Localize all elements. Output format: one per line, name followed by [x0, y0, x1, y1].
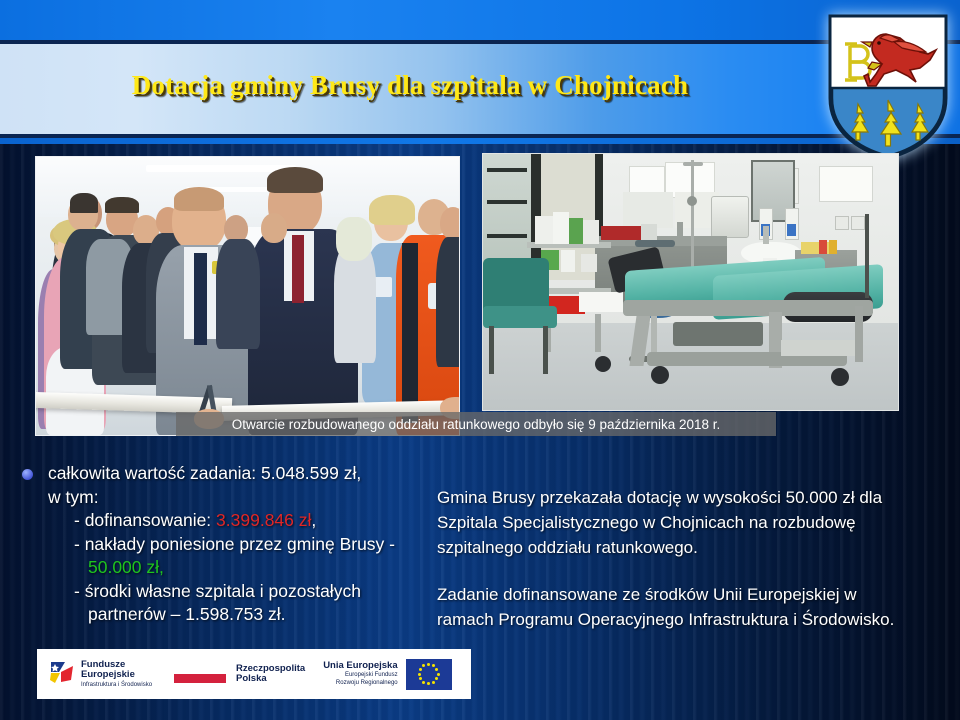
grant-paragraph-line-1: Gmina Brusy przekazała dotację w wysokoś…	[437, 485, 942, 510]
unia-europejska-text: Unia Europejska Europejski Fundusz Rozwo…	[323, 661, 397, 688]
unia-europejska-logo: Unia Europejska Europejski Fundusz Rozwo…	[323, 649, 461, 699]
eu-funding-line-2: ramach Programu Operacyjnego Infrastrukt…	[437, 607, 942, 632]
eu-star	[418, 673, 421, 676]
poland-flag-icon	[174, 666, 226, 683]
slide-header: Dotacja gminy Brusy dla szpitala w Chojn…	[0, 0, 960, 142]
presentation-slide: Dotacja gminy Brusy dla szpitala w Chojn…	[0, 0, 960, 720]
header-top-strip	[0, 0, 960, 40]
brusy-coat-of-arms-icon	[824, 12, 952, 160]
ue-subtitle-2: Rozwoju Regionalnego	[323, 679, 397, 687]
cofinancing-suffix: ,	[311, 510, 316, 530]
eu-star	[419, 677, 422, 680]
eu-flag-icon	[406, 659, 452, 690]
fe-subtitle: Infrastruktura i Środowisko	[81, 681, 152, 689]
fundusze-europejskie-icon	[49, 660, 75, 688]
eu-funding-logo-bar: Fundusze Europejskie Infrastruktura i Śr…	[37, 649, 471, 699]
rzeczpospolita-polska-logo: Rzeczpospolita Polska	[152, 649, 305, 699]
municipality-amount: 50.000 zł,	[88, 556, 432, 580]
cofinancing-line: - dofinansowanie: 3.399.846 zł,	[74, 509, 432, 533]
ue-line-1: Unia Europejska	[323, 661, 397, 672]
bullet-dot-icon	[22, 469, 33, 480]
eu-star	[427, 682, 430, 685]
eu-star	[435, 677, 438, 680]
total-value-line: całkowita wartość zadania: 5.048.599 zł,	[48, 462, 432, 486]
pl-line-2: Polska	[236, 674, 305, 685]
hospital-own-funds-line: - środki własne szpitala i pozostałych	[74, 580, 432, 604]
including-label: w tym:	[48, 486, 432, 510]
eu-star	[432, 681, 435, 684]
eu-star	[432, 664, 435, 667]
eu-star	[422, 681, 425, 684]
eu-star	[419, 668, 422, 671]
rzeczpospolita-text: Rzeczpospolita Polska	[236, 664, 305, 685]
hospital-room-photo	[482, 153, 899, 411]
partners-amount-line: partnerów – 1.598.753 zł.	[88, 603, 432, 627]
fundusze-europejskie-logo: Fundusze Europejskie Infrastruktura i Śr…	[37, 649, 152, 699]
page-title: Dotacja gminy Brusy dla szpitala w Chojn…	[60, 62, 760, 108]
description-text: Gmina Brusy przekazała dotację w wysokoś…	[437, 485, 942, 632]
fundusze-europejskie-text: Fundusze Europejskie Infrastruktura i Śr…	[81, 660, 152, 689]
eu-funding-line-1: Zadanie dofinansowane ze środków Unii Eu…	[437, 582, 942, 607]
fe-line-2: Europejskie	[81, 670, 152, 681]
eu-star	[437, 673, 440, 676]
eu-star	[422, 664, 425, 667]
grant-paragraph-line-2: Szpitala Specjalistycznego w Chojnicach …	[437, 510, 942, 535]
municipality-outlay-line: - nakłady poniesione przez gminę Brusy -	[74, 533, 432, 557]
municipality-amount-value: 50.000 zł,	[88, 557, 164, 577]
eu-star	[435, 668, 438, 671]
photo-caption: Otwarcie rozbudowanego oddziału ratunkow…	[176, 412, 776, 436]
ue-subtitle-1: Europejski Fundusz	[323, 671, 397, 679]
header-underline-strip	[0, 138, 960, 144]
list-item: całkowita wartość zadania: 5.048.599 zł,…	[22, 462, 432, 627]
cofinancing-amount: 3.399.846 zł	[216, 510, 311, 530]
grant-paragraph-line-3: szpitalnego oddziału ratunkowego.	[437, 535, 942, 560]
ribbon-cutting-photo	[35, 156, 460, 436]
eu-star	[427, 663, 430, 666]
cofinancing-label: - dofinansowanie:	[74, 510, 216, 530]
funding-breakdown-list: całkowita wartość zadania: 5.048.599 zł,…	[22, 462, 432, 627]
paragraph-spacer	[437, 560, 942, 582]
